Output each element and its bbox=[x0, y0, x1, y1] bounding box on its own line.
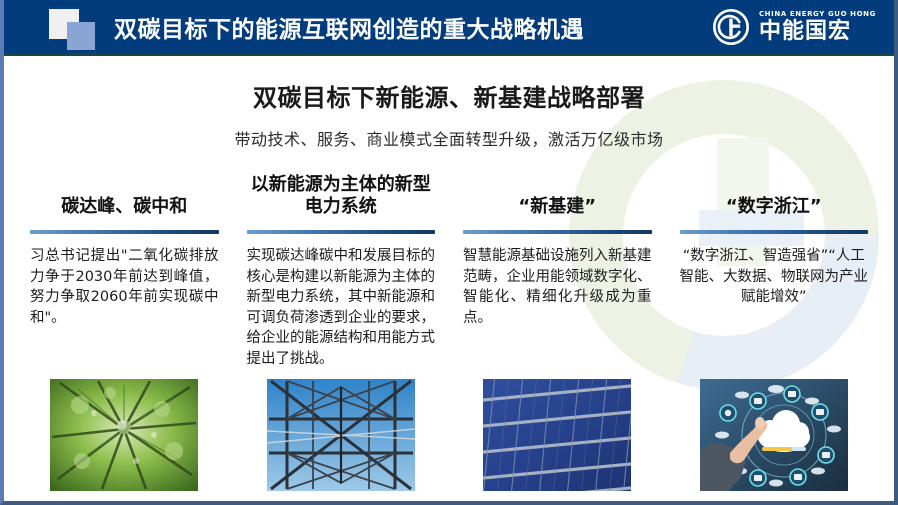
logo-chinese-text: 中能国宏 bbox=[759, 21, 876, 43]
column-new-infrastructure: “新基建” 智慧能源基础设施列入新基建范畴，企业用能领域数字化、智能化、精细化升… bbox=[449, 172, 666, 369]
forest-canopy-photo bbox=[50, 379, 198, 491]
solar-panel-photo bbox=[483, 379, 631, 491]
column-divider bbox=[247, 230, 436, 234]
column-body-text: 习总书记提出"二氧化碳排放力争于2030年前达到峰值，努力争取2060年前实现碳… bbox=[30, 246, 219, 328]
column-heading: 碳达峰、碳中和 bbox=[30, 172, 219, 218]
transmission-tower-photo bbox=[267, 379, 415, 491]
column-new-power-system: 以新能源为主体的新型电力系统 实现碳达峰碳中和发展目标的核心是构建以新能源为主体… bbox=[233, 172, 450, 369]
slide-header: 双碳目标下的能源互联网创造的重大战略机遇 CHINA ENERGY GUO HO… bbox=[4, 0, 894, 56]
column-heading: “数字浙江” bbox=[680, 172, 869, 218]
photo-strip bbox=[4, 365, 894, 491]
slide-canvas: 双碳目标下的能源互联网创造的重大战略机遇 CHINA ENERGY GUO HO… bbox=[0, 0, 898, 505]
columns-container: 碳达峰、碳中和 习总书记提出"二氧化碳排放力争于2030年前达到峰值，努力争取2… bbox=[4, 172, 894, 369]
photo-cell bbox=[16, 365, 233, 491]
column-body-text: 实现碳达峰碳中和发展目标的核心是构建以新能源为主体的新型电力系统，其中新能源和可… bbox=[247, 246, 436, 369]
column-heading: 以新能源为主体的新型电力系统 bbox=[247, 172, 436, 218]
column-body-text: “数字浙江、智造强省”“人工智能、大数据、物联网为产业赋能增效” bbox=[680, 246, 869, 308]
header-square-blue-icon bbox=[67, 22, 95, 50]
photo-cell bbox=[666, 365, 883, 491]
cloud-computing-photo bbox=[700, 379, 848, 491]
column-divider bbox=[30, 230, 219, 234]
company-logo: CHINA ENERGY GUO HONG 中能国宏 bbox=[711, 7, 876, 47]
logo-circle-g-icon bbox=[711, 7, 751, 47]
column-carbon-peak: 碳达峰、碳中和 习总书记提出"二氧化碳排放力争于2030年前达到峰值，努力争取2… bbox=[16, 172, 233, 369]
photo-cell bbox=[233, 365, 450, 491]
main-subtitle: 带动技术、服务、商业模式全面转型升级，激活万亿级市场 bbox=[4, 126, 894, 150]
column-divider bbox=[463, 230, 652, 234]
main-title: 双碳目标下新能源、新基建战略部署 bbox=[4, 78, 894, 113]
header-title: 双碳目标下的能源互联网创造的重大战略机遇 bbox=[114, 10, 584, 44]
logo-english-text: CHINA ENERGY GUO HONG bbox=[759, 11, 876, 18]
photo-cell bbox=[449, 365, 666, 491]
column-divider bbox=[680, 230, 869, 234]
column-digital-zhejiang: “数字浙江” “数字浙江、智造强省”“人工智能、大数据、物联网为产业赋能增效” bbox=[666, 172, 883, 369]
column-body-text: 智慧能源基础设施列入新基建范畴，企业用能领域数字化、智能化、精细化升级成为重点。 bbox=[463, 246, 652, 328]
column-heading: “新基建” bbox=[463, 172, 652, 218]
